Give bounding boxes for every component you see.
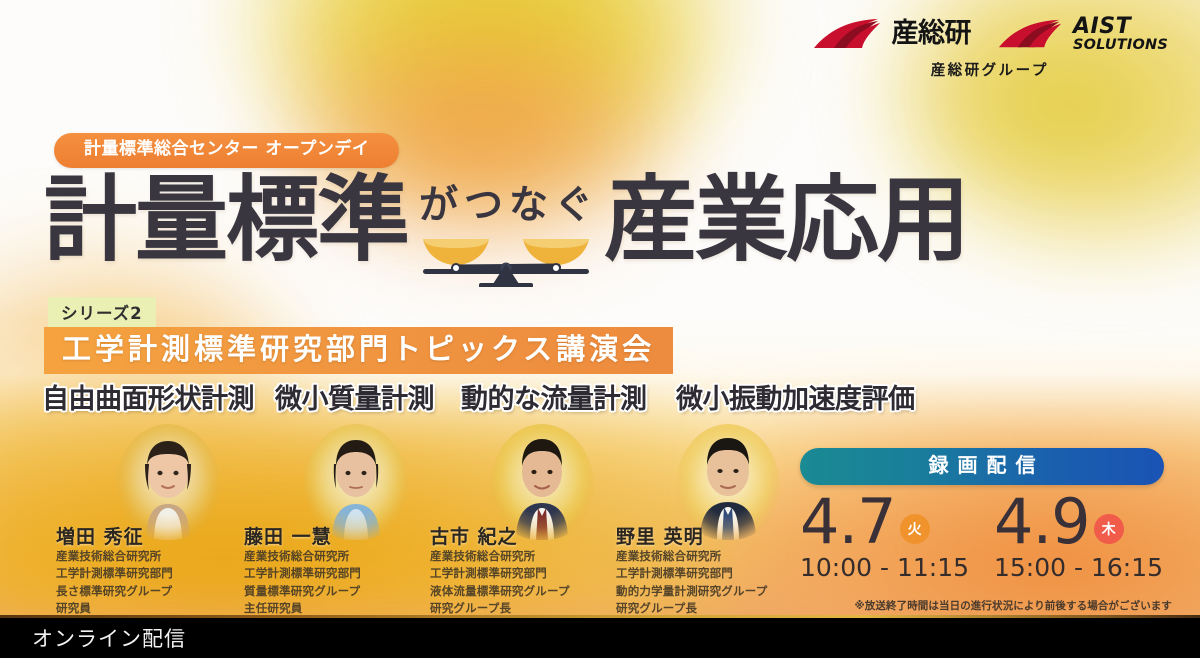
speaker-affiliation: 産業技術総合研究所工学計測標準研究部門長さ標準研究グループ研究員 xyxy=(56,548,173,618)
subtitle-bar: 工学計測標準研究部門トピックス講演会 xyxy=(44,327,673,374)
day-of-week-badge: 木 xyxy=(1094,514,1124,544)
aist-solutions-wordmark: AIST SOLUTIONS xyxy=(1073,16,1168,52)
main-title-left: 計量標準 xyxy=(44,172,408,270)
topic-heading: 微小質量計測 xyxy=(275,386,434,413)
broadcast-date-item: 4.7 火 10:00 - 11:15 xyxy=(800,493,970,582)
main-title-middle: がつなぐ xyxy=(408,186,604,225)
broadcast-panel: 録画配信 4.7 火 10:00 - 11:15 4.9 木 15:00 - 1… xyxy=(800,448,1180,582)
broadcast-date-row: 4.9 木 xyxy=(994,493,1164,550)
speaker-name: 藤田 一慧 xyxy=(244,522,332,549)
speaker-affiliation: 産業技術総合研究所工学計測標準研究部門液体流量標準研究グループ研究グループ長 xyxy=(430,548,570,618)
broadcast-time: 10:00 - 11:15 xyxy=(800,554,970,582)
main-title-middle-group: がつなぐ xyxy=(408,172,604,287)
broadcast-time: 15:00 - 16:15 xyxy=(994,554,1164,582)
speaker-name: 古市 紀之 xyxy=(430,522,518,549)
main-title-right: 産業応用 xyxy=(604,172,968,270)
aist-jp-logo-text: 産総研 xyxy=(892,20,972,47)
aist-solutions-logo: AIST SOLUTIONS xyxy=(997,16,1168,52)
broadcast-date-row: 4.7 火 xyxy=(800,493,970,550)
broadcast-date-item: 4.9 木 15:00 - 16:15 xyxy=(994,493,1164,582)
online-broadcast-label: オンライン配信 xyxy=(32,623,186,653)
open-day-badge: 計量標準総合センター オープンデイ xyxy=(54,133,399,168)
topic-heading: 自由曲面形状計測 xyxy=(42,386,254,413)
speaker-name: 野里 英明 xyxy=(616,522,704,549)
main-title: 計量標準 がつなぐ 産業応用 xyxy=(44,172,968,287)
speaker-name: 増田 秀征 xyxy=(56,522,144,549)
topic-heading: 微小振動加速度評価 xyxy=(676,386,915,413)
aist-solutions-line2: SOLUTIONS xyxy=(1073,38,1168,52)
broadcast-date-number: 4.7 xyxy=(800,493,896,550)
speaker-affiliation: 産業技術総合研究所工学計測標準研究部門質量標準研究グループ主任研究員 xyxy=(244,548,361,618)
speaker-affiliation: 産業技術総合研究所工学計測標準研究部門動的力学量計測研究グループ研究グループ長 xyxy=(616,548,767,618)
broadcast-note: ※放送終了時間は当日の進行状況により前後する場合がございます xyxy=(855,598,1173,613)
broadcast-date-list: 4.7 火 10:00 - 11:15 4.9 木 15:00 - 16:15 xyxy=(800,493,1180,582)
aist-solutions-swoosh-icon xyxy=(997,17,1065,51)
balance-scale-icon xyxy=(413,231,599,287)
aist-group-label: 産総研グループ xyxy=(931,59,1049,80)
topic-heading-list: 自由曲面形状計測 微小質量計測 動的な流量計測 微小振動加速度評価 xyxy=(0,386,1200,422)
aist-swoosh-icon xyxy=(812,17,884,51)
logo-block: 産総研 AIST SOLUTIONS 産総研グループ xyxy=(812,16,1168,80)
logo-row: 産総研 AIST SOLUTIONS xyxy=(812,16,1168,52)
topic-heading: 動的な流量計測 xyxy=(461,386,647,413)
day-of-week-badge: 火 xyxy=(900,514,930,544)
recorded-broadcast-badge: 録画配信 xyxy=(800,448,1164,485)
bottom-bar: オンライン配信 xyxy=(0,618,1200,658)
aist-solutions-line1: AIST xyxy=(1073,16,1168,38)
broadcast-date-number: 4.9 xyxy=(994,493,1090,550)
aist-jp-logo: 産総研 xyxy=(812,17,972,51)
poster-root: 産総研 AIST SOLUTIONS 産総研グループ 計量標準総合センター オー… xyxy=(0,0,1200,658)
series-tag: シリーズ2 xyxy=(48,297,156,328)
